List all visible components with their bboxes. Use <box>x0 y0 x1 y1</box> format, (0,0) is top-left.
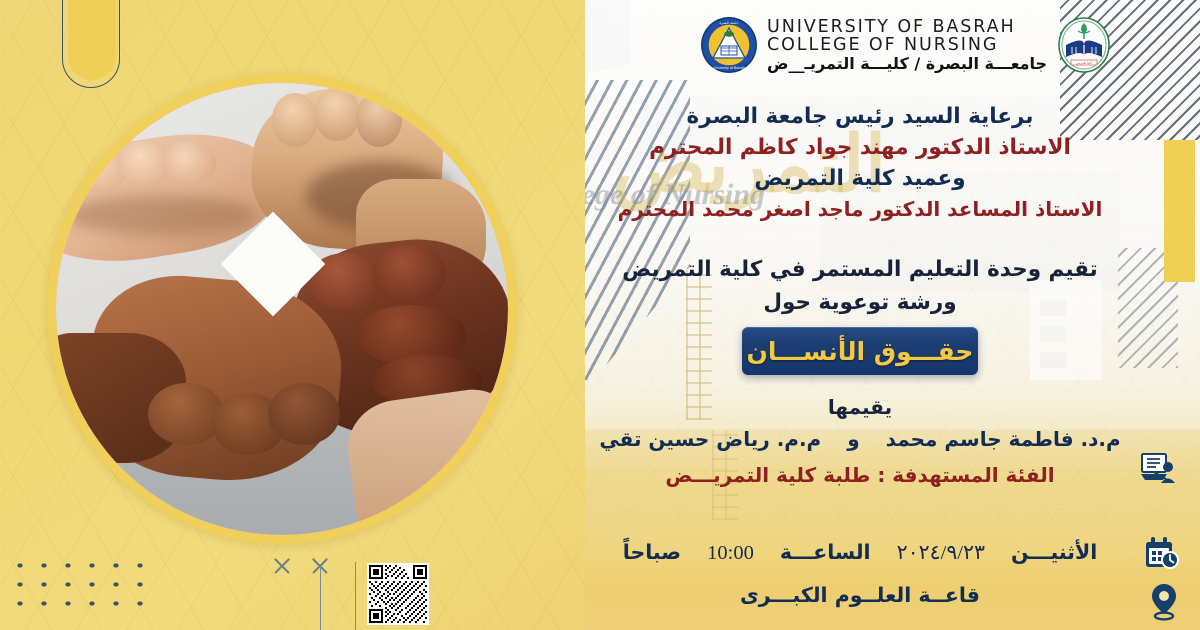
patronage-line-4: الاستاذ المساعد الدكتور ماجد اصغر محمد ا… <box>560 197 1160 221</box>
divider-line <box>355 562 356 630</box>
presenters-label: يقيمها <box>560 395 1160 419</box>
college-of-nursing-seal: كلية التمريض <box>1056 17 1112 73</box>
presenter-name-2: م.م. رياض حسين تقي <box>599 427 821 451</box>
qr-code[interactable] <box>367 563 429 625</box>
dot-grid-ornament <box>8 556 156 616</box>
schedule-date: ٢٠٢٤/٩/٢٣ <box>897 540 985 565</box>
patronage-line-2: الاستاذ الدكتور مهند جواد كاظم المحترم <box>560 135 1160 160</box>
calendar-clock-icon <box>1144 537 1180 575</box>
schedule-row: الأثنيـــن ٢٠٢٤/٩/٢٣ الساعـــة 10:00 صبا… <box>560 540 1160 565</box>
target-audience: الفئة المستهدفة : طلبة كلية التمريـــض <box>560 463 1160 487</box>
poster-header: جامعة البصرة University of Basrah UNIVER… <box>700 8 1048 82</box>
venue-row: قاعــة العلــوم الكبـــرى <box>560 583 1160 607</box>
header-title-en-line1: UNIVERSITY OF BASRAH <box>767 18 1047 36</box>
schedule-venue-block: الأثنيـــن ٢٠٢٤/٩/٢٣ الساعـــة 10:00 صبا… <box>560 540 1160 607</box>
workshop-title-text: حقـــوق الأنســـان <box>747 337 974 366</box>
workshop-title-banner: حقـــوق الأنســـان <box>742 327 978 375</box>
schedule-time-value: 10:00 <box>707 542 754 565</box>
svg-text:University of Basrah: University of Basrah <box>713 66 745 70</box>
header-titles: UNIVERSITY OF BASRAH COLLEGE OF NURSING … <box>767 18 1047 73</box>
schedule-time-label: الساعـــة <box>780 540 871 564</box>
presenter-name-1: م.د. فاطمة جاسم محمد <box>886 427 1121 451</box>
organizer-line-1: تقيم وحدة التعليم المستمر في كلية التمري… <box>560 257 1160 282</box>
header-title-en-line2: COLLEGE OF NURSING <box>767 36 1047 54</box>
patronage-block: برعاية السيد رئيس جامعة البصرة الاستاذ ا… <box>560 104 1160 221</box>
presenters-conjunction: و <box>847 427 859 451</box>
presenters-block: يقيمها م.د. فاطمة جاسم محمد و م.م. رياض … <box>560 395 1160 487</box>
svg-text:جامعة البصرة: جامعة البصرة <box>719 21 738 25</box>
hands-unity-photo <box>47 74 517 544</box>
presenters-names: م.د. فاطمة جاسم محمد و م.م. رياض حسين تق… <box>560 427 1160 451</box>
schedule-period: صباحاً <box>623 540 681 564</box>
poster-canvas: التمريض College of Nursing 2000 NG <box>0 0 1200 630</box>
header-title-ar: جامعـــة البصرة / كليـــة التمريـ__ض <box>767 56 1047 73</box>
poster-body: برعاية السيد رئيس جامعة البصرة الاستاذ ا… <box>560 104 1160 487</box>
divider-line <box>320 566 321 630</box>
svg-text:كلية التمريض: كلية التمريض <box>1076 61 1092 65</box>
location-pin-icon <box>1150 583 1178 625</box>
patronage-line-3: وعميد كلية التمريض <box>560 166 1160 191</box>
organizer-line-2: ورشة توعوية حول <box>560 290 1160 315</box>
right-edge-accent-bar <box>1164 140 1195 282</box>
presenter-icon <box>1140 452 1178 490</box>
university-of-basrah-seal: جامعة البصرة University of Basrah <box>700 16 758 74</box>
organizer-block: تقيم وحدة التعليم المستمر في كلية التمري… <box>560 257 1160 315</box>
x-mark-icon <box>272 556 292 576</box>
patronage-line-1: برعاية السيد رئيس جامعة البصرة <box>560 104 1160 129</box>
pill-ornament-outline <box>62 0 120 88</box>
venue-text: قاعــة العلــوم الكبـــرى <box>740 583 980 607</box>
schedule-day: الأثنيـــن <box>1011 540 1097 564</box>
